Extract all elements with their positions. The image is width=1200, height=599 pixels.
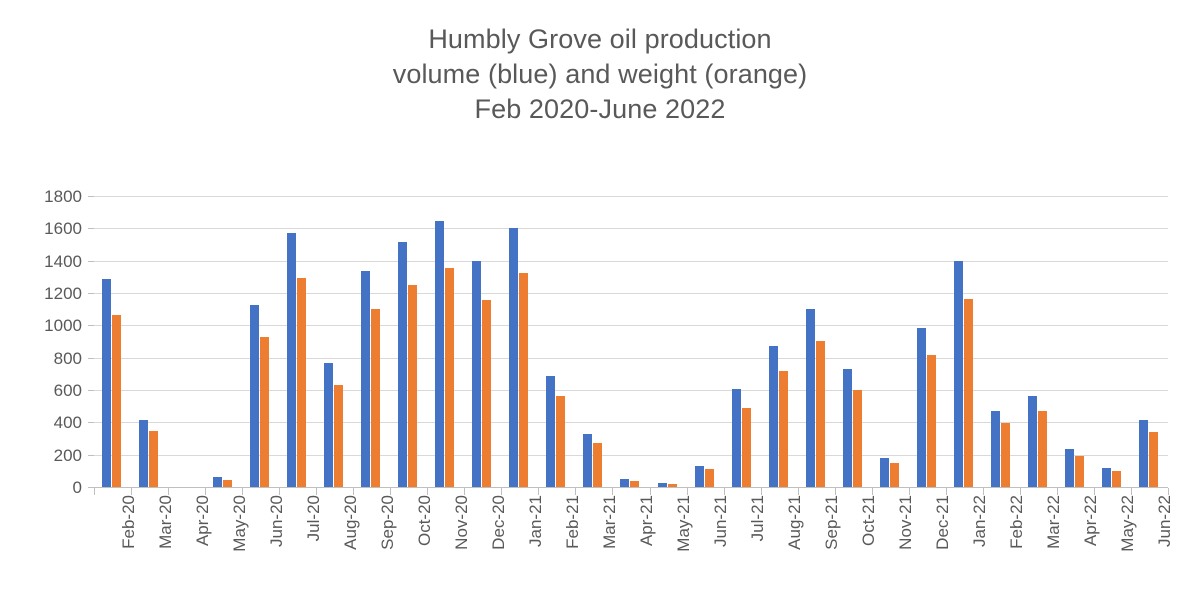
- x-axis-tick-mark: [1057, 488, 1058, 495]
- bar-weight: [816, 341, 825, 487]
- bar-weight: [334, 385, 343, 487]
- x-axis-tick-mark: [538, 488, 539, 495]
- x-axis-tick-label: Jan-21: [527, 495, 544, 547]
- x-axis-tick-mark: [575, 488, 576, 495]
- x-axis-tick-mark: [946, 488, 947, 495]
- bar-volume: [732, 389, 741, 487]
- x-axis: Feb-20Mar-20Apr-20May-20Jun-20Jul-20Aug-…: [94, 495, 1168, 595]
- bar-volume: [769, 346, 778, 487]
- y-axis-tick-label: 1000: [44, 317, 82, 334]
- bar-weight: [371, 309, 380, 487]
- x-axis-tick-mark: [909, 488, 910, 495]
- x-axis-tick-label: Mar-21: [601, 495, 618, 549]
- x-axis-tick-mark: [390, 488, 391, 495]
- x-axis-tick-mark: [687, 488, 688, 495]
- bar-weight: [890, 463, 899, 487]
- x-axis-tick-label: Jun-20: [268, 495, 285, 547]
- x-axis-tick-mark: [131, 488, 132, 495]
- x-axis-tick-mark: [1131, 488, 1132, 495]
- x-axis-tick-label: Mar-20: [157, 495, 174, 549]
- x-axis-tick-mark: [279, 488, 280, 495]
- bar-volume: [509, 228, 518, 487]
- bar-weight: [964, 299, 973, 487]
- bar-group: [798, 196, 835, 487]
- bar-volume: [843, 369, 852, 487]
- x-axis-tick-mark: [983, 488, 984, 495]
- x-axis-tick-label: Jun-22: [1156, 495, 1173, 547]
- x-axis-tick-mark: [94, 488, 95, 495]
- bar-group: [1057, 196, 1094, 487]
- bar-weight: [705, 469, 714, 487]
- bar-group: [835, 196, 872, 487]
- x-axis-tick-mark: [724, 488, 725, 495]
- bar-group: [501, 196, 538, 487]
- x-axis-tick-mark: [835, 488, 836, 495]
- x-axis-tick-label: Apr-20: [194, 495, 211, 546]
- y-axis-tick-label: 1400: [44, 253, 82, 270]
- bar-group: [761, 196, 798, 487]
- bar-group: [94, 196, 131, 487]
- bar-volume: [398, 242, 407, 487]
- bar-volume: [620, 479, 629, 487]
- x-axis-tick-label: Jun-21: [712, 495, 729, 547]
- bar-weight: [445, 268, 454, 487]
- bar-volume: [583, 434, 592, 487]
- x-axis-tick-label: Jul-21: [749, 495, 766, 541]
- bar-volume: [102, 279, 111, 487]
- bar-weight: [1038, 411, 1047, 487]
- bar-volume: [472, 261, 481, 487]
- bar-group: [1131, 196, 1168, 487]
- bar-group: [612, 196, 649, 487]
- bars-layer: [94, 196, 1168, 487]
- x-axis-tick-mark: [612, 488, 613, 495]
- y-axis-tick-label: 400: [54, 414, 82, 431]
- y-axis-tick-label: 600: [54, 382, 82, 399]
- bar-volume: [917, 328, 926, 487]
- bar-chart: Humbly Grove oil production volume (blue…: [0, 0, 1200, 599]
- bar-volume: [361, 271, 370, 487]
- bar-weight: [297, 278, 306, 487]
- x-axis-tick-label: Apr-21: [638, 495, 655, 546]
- bar-weight: [1001, 423, 1010, 487]
- bar-group: [983, 196, 1020, 487]
- y-axis-tick-label: 0: [73, 479, 82, 496]
- bar-weight: [408, 285, 417, 487]
- bar-group: [650, 196, 687, 487]
- bar-group: [390, 196, 427, 487]
- bar-group: [464, 196, 501, 487]
- bar-volume: [250, 305, 259, 487]
- bar-weight: [927, 355, 936, 487]
- y-axis: 020040060080010001200140016001800: [0, 0, 94, 599]
- y-axis-tick-label: 800: [54, 350, 82, 367]
- x-axis-tick-label: Dec-21: [934, 495, 951, 550]
- bar-group: [168, 196, 205, 487]
- bar-weight: [482, 300, 491, 487]
- x-axis-tick-mark: [761, 488, 762, 495]
- x-axis-tick-label: Feb-21: [564, 495, 581, 549]
- x-axis-tick-label: Feb-22: [1008, 495, 1025, 549]
- bar-weight: [1075, 456, 1084, 487]
- x-axis-tick-mark: [353, 488, 354, 495]
- bar-volume: [954, 261, 963, 487]
- bar-volume: [695, 466, 704, 487]
- x-axis-tick-label: Apr-22: [1082, 495, 1099, 546]
- bar-group: [353, 196, 390, 487]
- bar-volume: [324, 363, 333, 487]
- bar-volume: [1139, 420, 1148, 487]
- bar-group: [687, 196, 724, 487]
- bar-group: [242, 196, 279, 487]
- bar-weight: [260, 337, 269, 487]
- bar-volume: [991, 411, 1000, 487]
- bar-group: [1094, 196, 1131, 487]
- x-axis-tick-mark: [1168, 488, 1169, 495]
- x-axis-tick-marks: [94, 488, 1168, 495]
- x-axis-tick-label: Sep-20: [379, 495, 396, 550]
- bar-volume: [546, 376, 555, 487]
- x-axis-tick-mark: [501, 488, 502, 495]
- x-axis-tick-mark: [464, 488, 465, 495]
- bar-volume: [1028, 396, 1037, 487]
- bar-weight: [556, 396, 565, 487]
- x-axis-tick-mark: [316, 488, 317, 495]
- x-axis-tick-label: May-20: [231, 495, 248, 552]
- bar-group: [205, 196, 242, 487]
- y-axis-tick-label: 1200: [44, 285, 82, 302]
- x-axis-tick-mark: [872, 488, 873, 495]
- bar-group: [279, 196, 316, 487]
- x-axis-tick-mark: [427, 488, 428, 495]
- bar-volume: [1102, 468, 1111, 487]
- x-axis-tick-label: Oct-21: [860, 495, 877, 546]
- bar-weight: [779, 371, 788, 487]
- bar-volume: [806, 309, 815, 487]
- x-axis-tick-mark: [242, 488, 243, 495]
- y-axis-tick-label: 1600: [44, 220, 82, 237]
- bar-group: [316, 196, 353, 487]
- bar-weight: [149, 431, 158, 487]
- bar-weight: [1112, 471, 1121, 487]
- x-axis-tick-label: Feb-20: [120, 495, 137, 549]
- x-axis-tick-label: May-21: [675, 495, 692, 552]
- bar-group: [1020, 196, 1057, 487]
- bar-weight: [223, 480, 232, 487]
- y-axis-tick-label: 1800: [44, 188, 82, 205]
- bar-group: [872, 196, 909, 487]
- bar-weight: [593, 443, 602, 487]
- x-axis-tick-label: Jan-22: [971, 495, 988, 547]
- y-axis-tick-label: 200: [54, 447, 82, 464]
- bar-weight: [742, 408, 751, 487]
- chart-title: Humbly Grove oil production volume (blue…: [0, 22, 1200, 127]
- x-axis-tick-label: Mar-22: [1045, 495, 1062, 549]
- x-axis-tick-label: Oct-20: [416, 495, 433, 546]
- bar-group: [946, 196, 983, 487]
- x-axis-tick-label: Nov-20: [453, 495, 470, 550]
- bar-group: [909, 196, 946, 487]
- bar-group: [131, 196, 168, 487]
- bar-weight: [112, 315, 121, 487]
- x-axis-tick-mark: [798, 488, 799, 495]
- x-axis-tick-label: Aug-20: [342, 495, 359, 550]
- bar-group: [724, 196, 761, 487]
- x-axis-tick-label: May-22: [1119, 495, 1136, 552]
- x-axis-tick-mark: [168, 488, 169, 495]
- x-axis-tick-label: Dec-20: [490, 495, 507, 550]
- bar-weight: [519, 273, 528, 487]
- x-axis-tick-label: Nov-21: [897, 495, 914, 550]
- bar-group: [575, 196, 612, 487]
- bar-volume: [139, 420, 148, 487]
- bar-group: [427, 196, 464, 487]
- x-axis-tick-label: Sep-21: [823, 495, 840, 550]
- bar-volume: [435, 221, 444, 487]
- bar-volume: [213, 477, 222, 487]
- x-axis-tick-mark: [205, 488, 206, 495]
- bar-volume: [880, 458, 889, 487]
- x-axis-tick-label: Jul-20: [305, 495, 322, 541]
- bar-group: [538, 196, 575, 487]
- bar-volume: [287, 233, 296, 487]
- bar-volume: [1065, 449, 1074, 487]
- x-axis-tick-mark: [650, 488, 651, 495]
- x-axis-tick-mark: [1094, 488, 1095, 495]
- x-axis-tick-mark: [1020, 488, 1021, 495]
- bar-weight: [853, 390, 862, 487]
- bar-weight: [1149, 432, 1158, 487]
- x-axis-tick-label: Aug-21: [786, 495, 803, 550]
